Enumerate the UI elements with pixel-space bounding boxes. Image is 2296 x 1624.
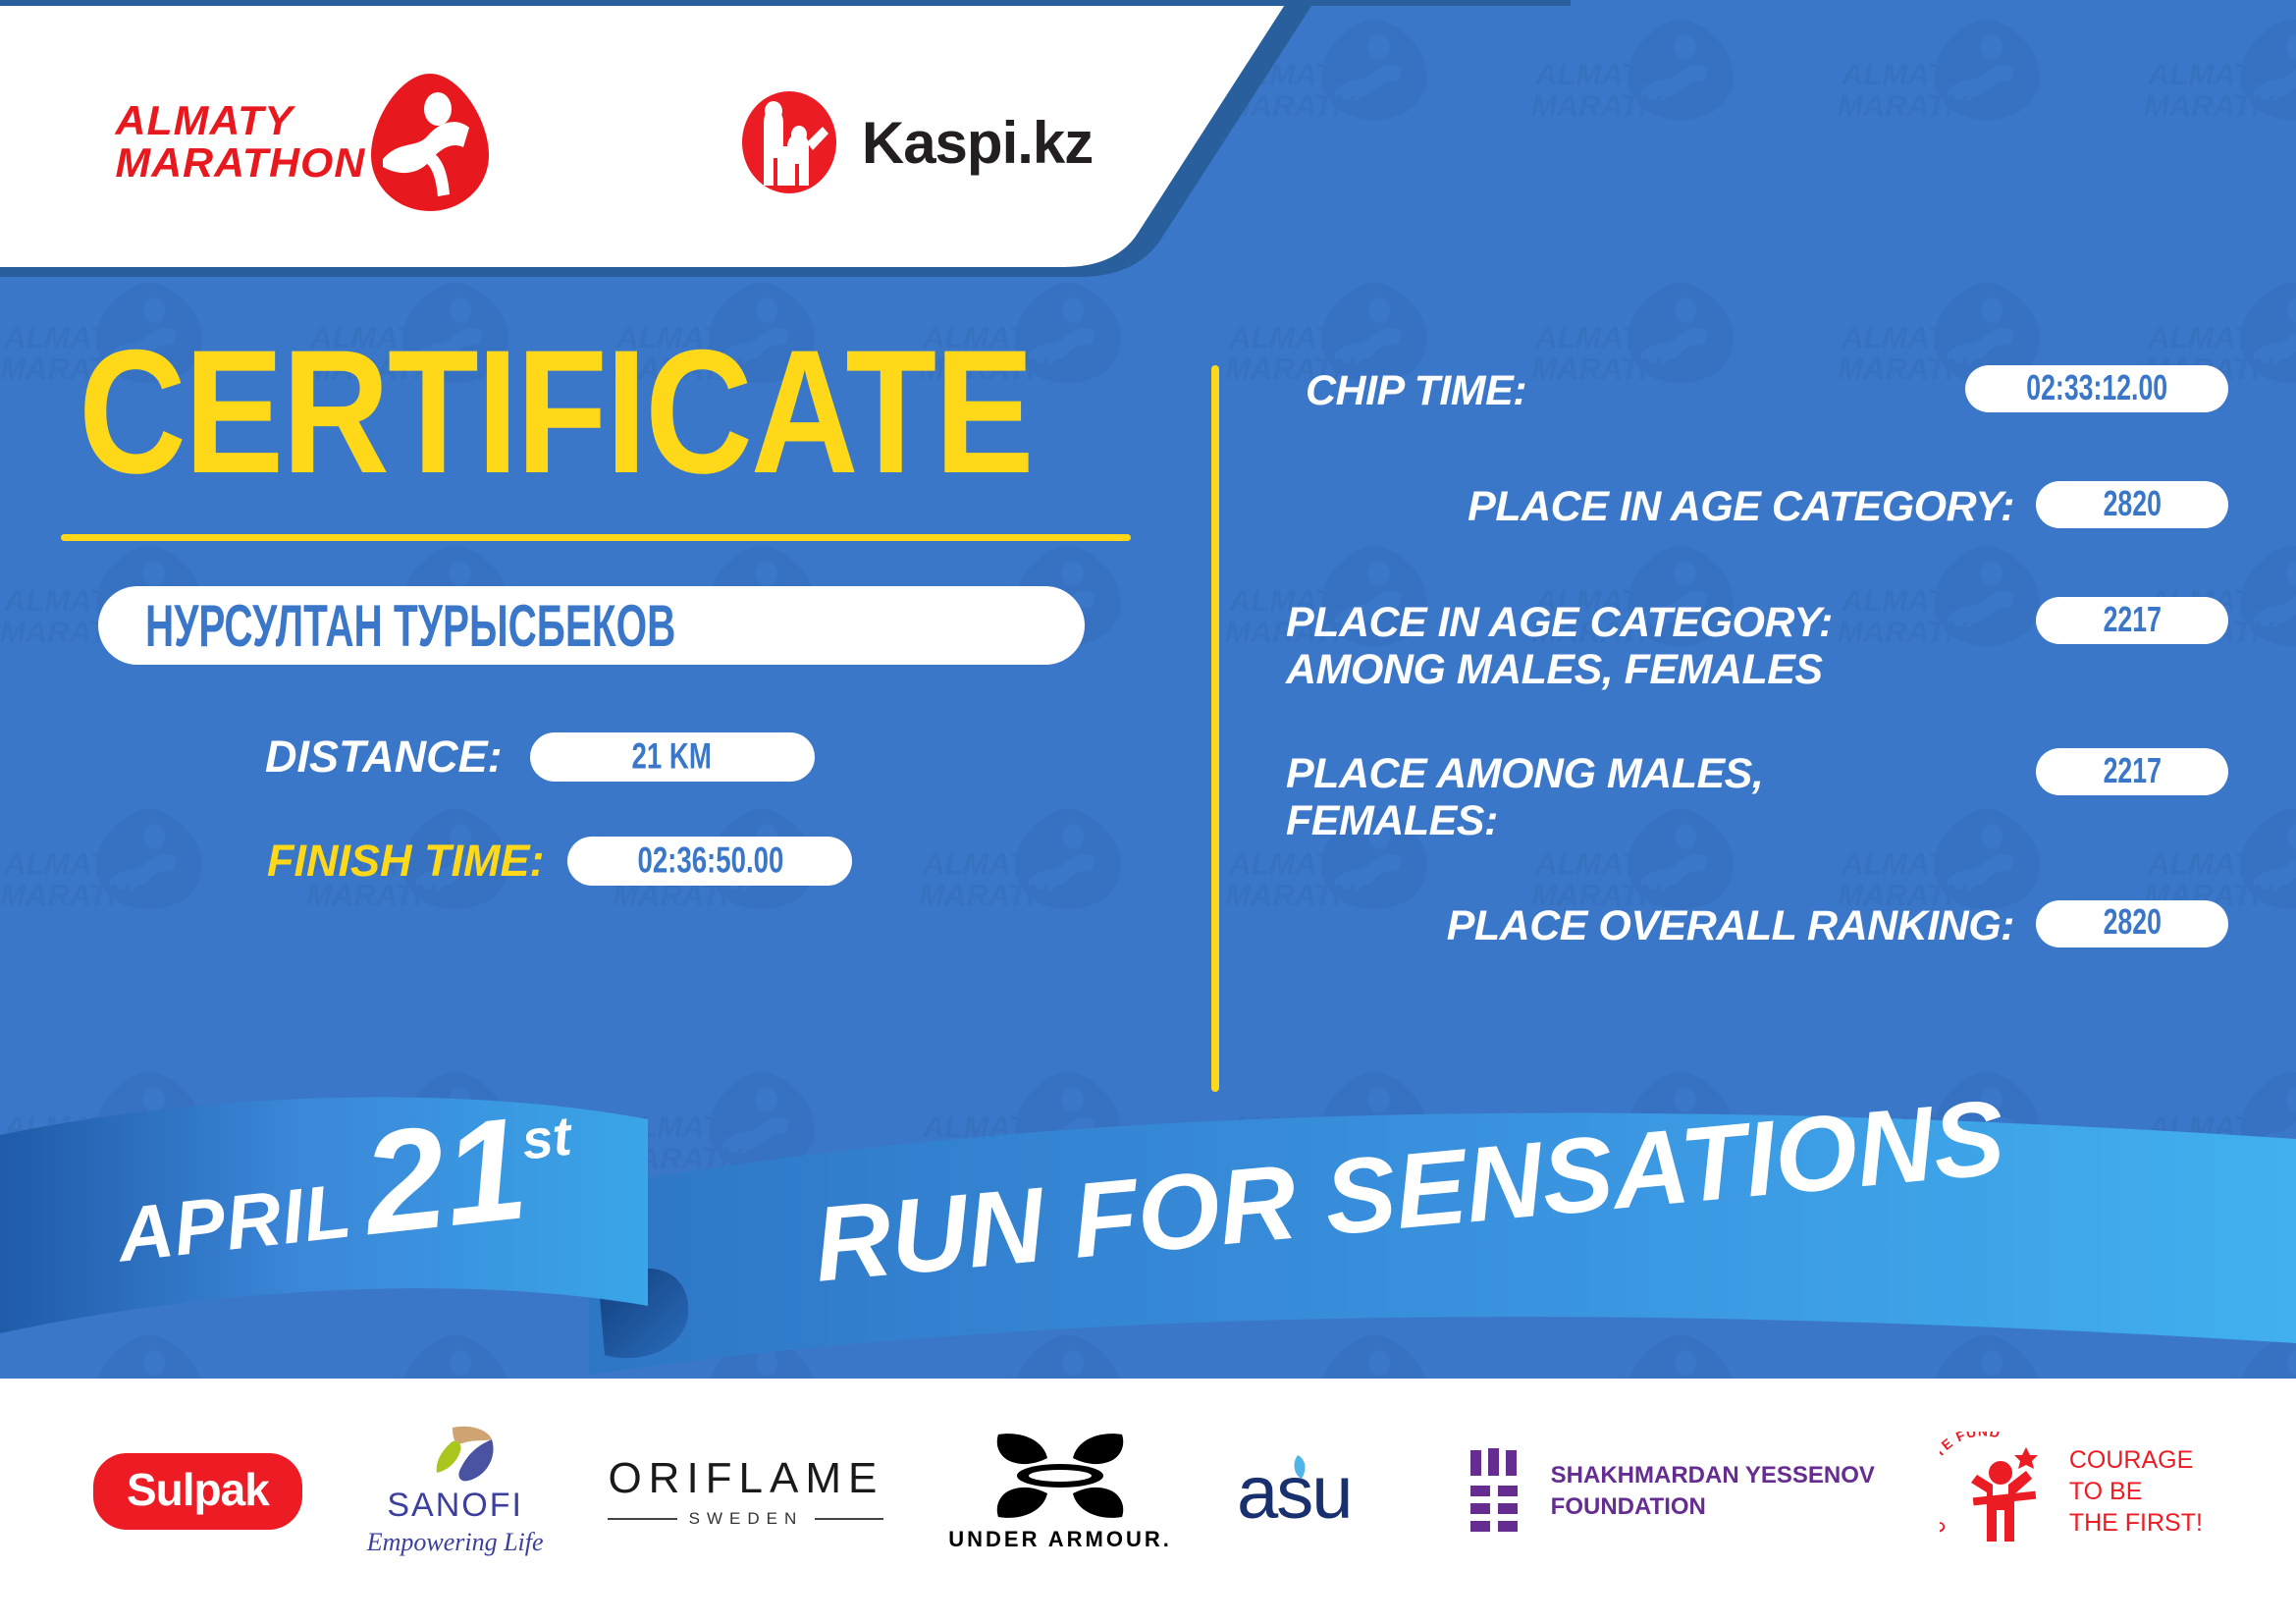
sanofi-icon	[413, 1426, 498, 1485]
under-armour-icon	[987, 1431, 1134, 1521]
sponsor-asu: asu	[1237, 1449, 1404, 1534]
yessenov-line1: SHAKHMARDAN YESSENOV	[1551, 1460, 1875, 1491]
oriflame-subtitle: SWEDEN	[689, 1509, 804, 1529]
event-day: 21	[357, 1103, 532, 1250]
place-overall-label: PLACE OVERALL RANKING:	[1266, 900, 2014, 949]
asu-wordmark-icon: asu	[1237, 1449, 1404, 1534]
chip-time-label: CHIP TIME:	[1266, 365, 1944, 414]
courage-fund-icon: CORPORATE FUND	[1940, 1432, 2061, 1551]
place-among-label-line2: FEMALES:	[1286, 797, 2014, 844]
sponsor-under-armour: UNDER ARMOUR.	[948, 1431, 1172, 1552]
sulpak-wordmark: Sulpak	[127, 1464, 269, 1515]
courage-line3: THE FIRST!	[2069, 1507, 2203, 1539]
result-row-place-age-category-among: PLACE IN AGE CATEGORY: AMONG MALES, FEMA…	[1266, 597, 2228, 693]
chip-time-value-pill: 02:33:12.00	[1965, 365, 2228, 412]
sponsor-courage-fund: CORPORATE FUND COURAGE TO BE THE FIRST!	[1940, 1432, 2203, 1551]
place-overall-value: 2820	[2103, 903, 2161, 944]
kaspi-logo: Kaspi.kz	[738, 87, 1093, 197]
sponsors-footer: Sulpak SANOFI Empowering Life ORIFLAME S…	[0, 1379, 2296, 1624]
place-age-among-label-line1: PLACE IN AGE CATEGORY:	[1286, 599, 2014, 646]
almaty-marathon-line2: MARATHON	[116, 142, 366, 185]
participant-name-value: НУРСУЛТАН ТУРЫСБЕКОВ	[145, 590, 675, 660]
participant-name-field: НУРСУЛТАН ТУРЫСБЕКОВ	[98, 586, 1085, 665]
courage-line1: COURAGE	[2069, 1444, 2203, 1476]
chip-time-value: 02:33:12.00	[2026, 368, 2167, 408]
certificate-canvas: ALMATY MARATHON ALMATY MARATHON	[0, 0, 2296, 1624]
under-armour-wordmark: UNDER ARMOUR.	[948, 1527, 1172, 1552]
yessenov-icon	[1468, 1448, 1529, 1535]
finish-time-value-pill: 02:36:50.00	[567, 837, 852, 886]
place-among-value: 2217	[2103, 752, 2161, 792]
almaty-marathon-logo: ALMATY MARATHON	[118, 69, 493, 216]
title-underline	[61, 534, 1131, 541]
oriflame-rule-left	[608, 1518, 676, 1520]
sponsor-sanofi: SANOFI Empowering Life	[367, 1426, 544, 1557]
finish-time-label: FINISH TIME:	[267, 836, 544, 887]
finish-time-row: FINISH TIME: 02:36:50.00	[267, 836, 1178, 887]
runner-drop-icon	[367, 69, 493, 216]
place-among-label-line1: PLACE AMONG MALES,	[1286, 750, 2014, 797]
sponsor-oriflame: ORIFLAME SWEDEN	[608, 1454, 883, 1529]
place-age-category-label: PLACE IN AGE CATEGORY:	[1266, 481, 2014, 530]
result-row-place-age-category: PLACE IN AGE CATEGORY: 2820	[1266, 481, 2228, 542]
result-row-place-overall: PLACE OVERALL RANKING: 2820	[1266, 900, 2228, 961]
left-column: CERTIFICATE НУРСУЛТАН ТУРЫСБЕКОВ DISTANC…	[0, 324, 1178, 887]
place-age-category-value-pill: 2820	[2036, 481, 2228, 528]
results-column: CHIP TIME: 02:33:12.00 PLACE IN AGE CATE…	[1266, 365, 2228, 961]
header-logos: ALMATY MARATHON Kaspi.kz	[0, 0, 1178, 285]
distance-row: DISTANCE: 21 KM	[265, 731, 1178, 783]
place-age-among-label-line2: AMONG MALES, FEMALES	[1286, 646, 2014, 693]
place-age-among-value: 2217	[2103, 600, 2161, 640]
svg-text:asu: asu	[1237, 1451, 1352, 1534]
sanofi-tagline: Empowering Life	[367, 1528, 544, 1557]
finish-time-value: 02:36:50.00	[637, 840, 783, 883]
oriflame-rule-right	[815, 1518, 883, 1520]
yessenov-line2: FOUNDATION	[1551, 1491, 1875, 1523]
event-day-ordinal: st	[518, 1104, 574, 1172]
place-among-value-pill: 2217	[2036, 748, 2228, 795]
kaspi-family-icon	[738, 87, 840, 197]
place-age-among-value-pill: 2217	[2036, 597, 2228, 644]
almaty-marathon-line1: ALMATY	[116, 100, 366, 142]
distance-value-pill: 21 KM	[530, 732, 815, 782]
distance-label: DISTANCE:	[265, 731, 503, 783]
sponsor-yessenov-foundation: SHAKHMARDAN YESSENOV FOUNDATION	[1468, 1448, 1875, 1535]
certificate-title: CERTIFICATE	[79, 324, 1178, 500]
distance-value: 21 KM	[632, 736, 712, 779]
sponsor-sulpak: Sulpak	[93, 1453, 302, 1530]
oriflame-wordmark: ORIFLAME	[608, 1454, 883, 1503]
courage-line2: TO BE	[2069, 1476, 2203, 1507]
place-age-category-value: 2820	[2103, 484, 2161, 524]
vertical-divider	[1211, 365, 1219, 1092]
place-overall-value-pill: 2820	[2036, 900, 2228, 947]
kaspi-wordmark: Kaspi.kz	[862, 109, 1093, 177]
result-row-place-among-males-females: PLACE AMONG MALES, FEMALES: 2217	[1266, 748, 2228, 844]
sanofi-wordmark: SANOFI	[387, 1487, 523, 1525]
result-row-chip-time: CHIP TIME: 02:33:12.00	[1266, 365, 2228, 426]
